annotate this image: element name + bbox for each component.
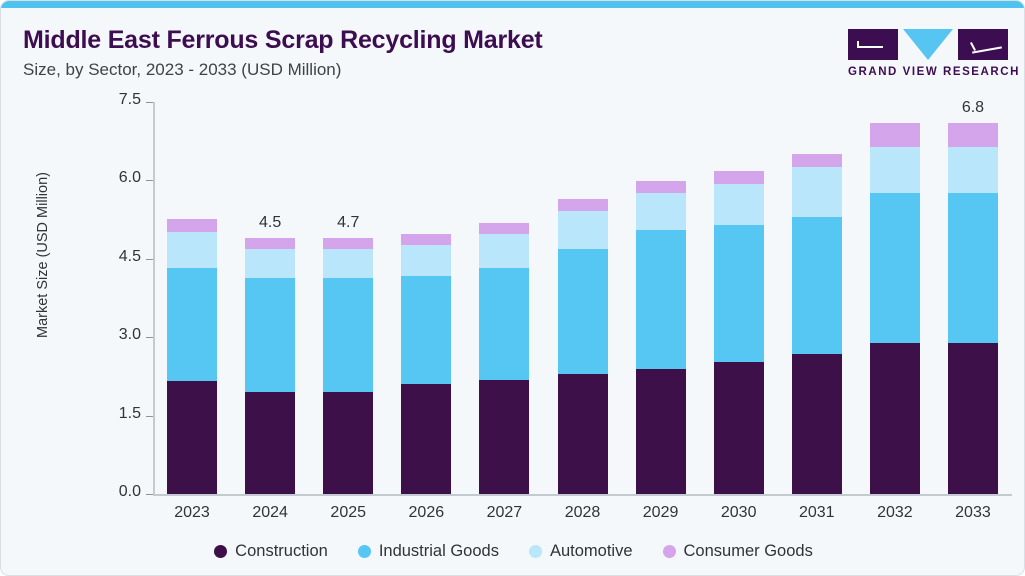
x-tick-label: 2030 (702, 504, 776, 522)
bar-segment[interactable] (870, 343, 920, 494)
bar-segment[interactable] (323, 249, 373, 278)
y-tick-mark (146, 416, 153, 417)
bar-segment[interactable] (245, 278, 295, 391)
chart-card: Middle East Ferrous Scrap Recycling Mark… (0, 0, 1025, 576)
bar-stack-2026[interactable] (401, 234, 451, 494)
legend-swatch-icon (663, 545, 676, 558)
legend-label: Construction (235, 542, 328, 561)
bar-segment[interactable] (401, 245, 451, 275)
bar-segment[interactable] (401, 234, 451, 245)
bar-segment[interactable] (245, 238, 295, 249)
bar-segment[interactable] (323, 238, 373, 249)
bar-segment[interactable] (792, 154, 842, 167)
bar-segment[interactable] (245, 249, 295, 278)
y-tick-label: 7.5 (97, 91, 141, 109)
bar-segment[interactable] (948, 123, 998, 147)
legend-label: Consumer Goods (684, 542, 813, 561)
bar-segment[interactable] (323, 392, 373, 494)
y-tick-mark (146, 494, 153, 495)
bar-segment[interactable] (870, 193, 920, 342)
x-tick-label: 2032 (858, 504, 932, 522)
legend-item-construction[interactable]: Construction (214, 542, 328, 561)
bar-value-label: 4.7 (337, 214, 359, 232)
y-tick-label: 3.0 (97, 326, 141, 344)
legend-item-automotive[interactable]: Automotive (529, 542, 633, 561)
x-tick-label: 2024 (233, 504, 307, 522)
legend-item-industrial-goods[interactable]: Industrial Goods (358, 542, 499, 561)
legend-label: Automotive (550, 542, 633, 561)
bar-segment[interactable] (792, 167, 842, 217)
bar-value-label: 6.8 (962, 99, 984, 117)
bar-stack-2029[interactable] (636, 181, 686, 494)
bar-segment[interactable] (558, 211, 608, 249)
bar-segment[interactable] (167, 219, 217, 232)
bar-segment[interactable] (870, 123, 920, 147)
bar-segment[interactable] (245, 392, 295, 494)
bar-stack-2028[interactable] (558, 199, 608, 494)
bar-segment[interactable] (636, 369, 686, 494)
y-axis-title: Market Size (USD Million) (35, 125, 51, 385)
bar-segment[interactable] (714, 184, 764, 226)
y-tick-label: 0.0 (97, 483, 141, 501)
x-tick-label: 2031 (780, 504, 854, 522)
y-tick-label: 1.5 (97, 405, 141, 423)
x-tick-label: 2027 (467, 504, 541, 522)
x-tick-label: 2033 (936, 504, 1010, 522)
y-axis-line (153, 102, 155, 494)
y-tick-label: 4.5 (97, 248, 141, 266)
x-tick-label: 2026 (389, 504, 463, 522)
bar-segment[interactable] (167, 381, 217, 494)
bar-segment[interactable] (479, 268, 529, 380)
bar-segment[interactable] (714, 225, 764, 362)
legend-swatch-icon (358, 545, 371, 558)
y-tick-mark (146, 102, 153, 103)
bar-stack-2024[interactable]: 4.5 (245, 238, 295, 494)
legend-swatch-icon (529, 545, 542, 558)
bar-segment[interactable] (479, 234, 529, 267)
bar-segment[interactable] (792, 217, 842, 354)
bar-segment[interactable] (948, 343, 998, 494)
x-tick-label: 2023 (155, 504, 229, 522)
bar-segment[interactable] (401, 276, 451, 385)
legend-item-consumer-goods[interactable]: Consumer Goods (663, 542, 813, 561)
bar-segment[interactable] (479, 223, 529, 234)
legend-swatch-icon (214, 545, 227, 558)
bar-stack-2023[interactable] (167, 219, 217, 494)
bar-segment[interactable] (167, 268, 217, 380)
x-axis-line (153, 494, 1012, 496)
bar-segment[interactable] (792, 354, 842, 494)
bar-segment[interactable] (167, 232, 217, 268)
bar-segment[interactable] (636, 230, 686, 369)
chart-legend: ConstructionIndustrial GoodsAutomotiveCo… (1, 542, 1025, 561)
bar-segment[interactable] (636, 181, 686, 193)
bar-segment[interactable] (558, 374, 608, 494)
bar-stack-2031[interactable] (792, 154, 842, 494)
bar-segment[interactable] (714, 171, 764, 184)
bar-segment[interactable] (948, 193, 998, 342)
y-tick-mark (146, 259, 153, 260)
bar-segment[interactable] (948, 147, 998, 194)
bar-stack-2033[interactable]: 6.8 (948, 123, 998, 494)
bar-segment[interactable] (401, 384, 451, 494)
bar-value-label: 4.5 (259, 214, 281, 232)
bar-segment[interactable] (636, 193, 686, 230)
legend-label: Industrial Goods (379, 542, 499, 561)
y-tick-mark (146, 337, 153, 338)
bar-segment[interactable] (479, 380, 529, 494)
bar-stack-2030[interactable] (714, 171, 764, 494)
y-tick-label: 6.0 (97, 169, 141, 187)
x-tick-label: 2029 (624, 504, 698, 522)
bar-segment[interactable] (323, 278, 373, 391)
bar-stack-2027[interactable] (479, 223, 529, 494)
x-tick-label: 2028 (546, 504, 620, 522)
x-tick-label: 2025 (311, 504, 385, 522)
bar-segment[interactable] (870, 147, 920, 194)
bar-stack-2025[interactable]: 4.7 (323, 238, 373, 494)
bar-stack-2032[interactable] (870, 123, 920, 494)
bar-segment[interactable] (558, 249, 608, 374)
y-tick-mark (146, 180, 153, 181)
bar-segment[interactable] (714, 362, 764, 494)
plot-area: Market Size (USD Million) 0.01.53.04.56.… (1, 1, 1025, 576)
bar-segment[interactable] (558, 199, 608, 212)
